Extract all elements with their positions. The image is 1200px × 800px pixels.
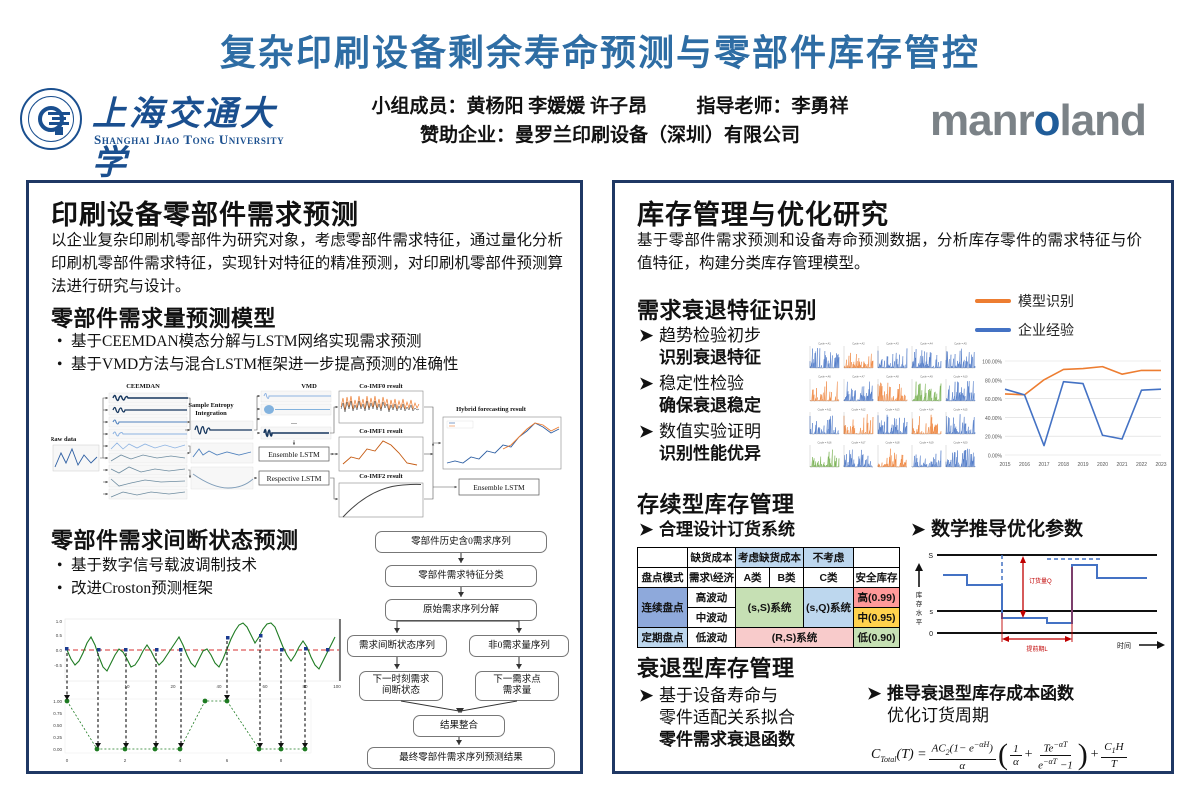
degradation-inventory-item: ➤ 基于设备寿命与 零件适配关系拟合 零件需求衰退函数 — [639, 685, 869, 751]
line-chart-svg: 0.00%20.00%40.00%60.00%80.00%100.00%2015… — [969, 353, 1167, 479]
manroland-logo-part-b: land — [1059, 96, 1145, 145]
svg-text:2017: 2017 — [1038, 462, 1049, 468]
bullet-dot-icon: • — [57, 578, 71, 600]
legend-label-experience: 企业经验 — [1018, 320, 1074, 340]
svg-text:Cycle = A9: Cycle = A9 — [920, 375, 933, 379]
left-subtitle-2: 零部件需求间断状态预测 — [51, 523, 299, 555]
poster-header: 复杂印刷设备剩余寿命预测与零部件库存管控 上海交通大学 Shanghai Jia… — [0, 0, 1200, 170]
formula-frac4-num: C1H — [1101, 741, 1126, 758]
table-row: 连续盘点 高波动 (s,S)系统 (s,Q)系统 高(0.99) — [638, 588, 900, 608]
flow-box-4: 需求间断状态序列 — [347, 635, 447, 657]
table-row: 缺货成本 考虑缺货成本 不考虑 — [638, 548, 900, 568]
degradation-item-3-line2: 识别性能优异 — [659, 443, 761, 465]
inventory-level-figure: S s 0 库 存 水 平 订货量Q — [907, 545, 1169, 655]
cell-class-b: B类 — [770, 568, 804, 588]
svg-text:20: 20 — [170, 684, 176, 689]
svg-text:Cycle = A16: Cycle = A16 — [818, 441, 832, 445]
svg-text:0.0: 0.0 — [56, 648, 63, 653]
svg-text:6: 6 — [226, 758, 229, 763]
svg-text:-0.5: -0.5 — [54, 663, 62, 668]
svg-text:存: 存 — [916, 599, 923, 608]
svg-text:CEEMDAN: CEEMDAN — [126, 383, 160, 390]
svg-text:Cycle = A3: Cycle = A3 — [886, 342, 899, 346]
svg-text:1.0: 1.0 — [56, 619, 63, 624]
total-cost-formula: CTotal(T) = AC2(1− e−αH) α ( 1 α + Te−αT… — [871, 739, 1171, 772]
svg-text:Ensemble LSTM: Ensemble LSTM — [473, 483, 525, 492]
flow-box-7: 下一需求点需求量 — [475, 671, 559, 701]
svg-text:0.00: 0.00 — [53, 747, 62, 752]
arrow-bullet-icon: ➤ — [911, 519, 931, 541]
inventory-level-svg: S s 0 库 存 水 平 订货量Q — [907, 545, 1169, 655]
formula-frac2-num: 1 — [1010, 743, 1022, 756]
left-panel-title: 印刷设备零部件需求预测 — [51, 193, 359, 232]
formula-plus-2: + — [1090, 747, 1099, 763]
lead-time-label: 提前期L — [1026, 645, 1048, 653]
cell-ss-system: (s,S)系统 — [736, 588, 804, 628]
small-multiples-figure: Cycle = A1Cycle = A2Cycle = A3Cycle = A4… — [798, 335, 978, 477]
left-bullet-1: •基于CEEMDAN模态分解与LSTM网络实现需求预测 — [57, 331, 567, 353]
arrow-bullet-icon: ➤ — [639, 421, 659, 443]
svg-text:2019: 2019 — [1077, 462, 1088, 468]
degradation-item-3-line1: 数值实验证明 — [659, 421, 761, 443]
flow-box-9: 最终零部件需求序列预测结果 — [367, 747, 555, 769]
table-row: 盘点模式 需求\经济 A类 B类 C类 安全库存 — [638, 568, 900, 588]
cell-safety-low: 低(0.90) — [854, 628, 900, 648]
bullet-dot-icon: • — [57, 331, 71, 353]
bullet-dot-icon: • — [57, 555, 71, 577]
svg-text:Cycle = A20: Cycle = A20 — [954, 441, 968, 445]
svg-text:Cycle = A4: Cycle = A4 — [920, 342, 933, 346]
cell-class-a: A类 — [736, 568, 770, 588]
deg-inv-line2: 零件适配关系拟合 — [659, 707, 795, 729]
svg-text:Cycle = A6: Cycle = A6 — [818, 375, 831, 379]
cell-shortage-cost: 缺货成本 — [688, 548, 736, 568]
legend-swatch-experience — [975, 328, 1011, 332]
svg-text:Co-IMF2 result: Co-IMF2 result — [359, 473, 403, 480]
deg-inv-line1: 基于设备寿命与 — [659, 685, 795, 707]
formula-frac4-den: T — [1108, 758, 1120, 770]
sponsor-label: 赞助企业：曼罗兰印刷设备（深圳）有限公司 — [290, 121, 930, 150]
svg-text:60.00%: 60.00% — [985, 397, 1003, 403]
formula-plus-1: + — [1024, 747, 1033, 763]
cell-periodic-count: 定期盘点 — [638, 628, 688, 648]
degradation-item-1-line1: 趋势检验初步 — [659, 325, 761, 347]
cell-blank-2 — [854, 548, 900, 568]
formula-paren-open: ( — [998, 740, 1008, 770]
left-bullet-2: •基于VMD方法与混合LSTM框架进一步提高预测的准确性 — [57, 354, 567, 376]
left-bullet-4-text: 改进Croston预测框架 — [71, 580, 213, 597]
formula-frac-2: 1 α — [1010, 743, 1022, 768]
svg-text:20.00%: 20.00% — [985, 435, 1003, 441]
svg-text:100.00%: 100.00% — [982, 360, 1002, 366]
demand-prediction-flowchart: 零部件历史含0需求序列 零部件需求特征分类 原始需求序列分解 需求间断状态序列 … — [347, 531, 575, 769]
x-axis-label: 时间 — [1117, 641, 1131, 650]
left-bullet-1-text: 基于CEEMDAN模态分解与LSTM网络实现需求预测 — [71, 333, 421, 350]
manroland-logo-part-a: manr — [930, 96, 1034, 145]
svg-text:2023: 2023 — [1155, 462, 1166, 468]
cell-low-fluct: 低波动 — [688, 628, 736, 648]
right-subtitle-2: 存续型库存管理 — [637, 487, 795, 519]
arrow-bullet-icon: ➤ — [867, 683, 887, 705]
svg-text:80.00%: 80.00% — [985, 378, 1003, 384]
left-panel-intro: 以企业复杂印刷机零部件为研究对象，考虑零部件需求特征，通过量化分析印刷机零部件需… — [51, 229, 563, 298]
order-qty-label: 订货量Q — [1029, 577, 1052, 585]
formula-frac1-den: α — [956, 760, 968, 772]
arrow-bullet-icon: ➤ — [639, 519, 659, 541]
small-multiples-svg: Cycle = A1Cycle = A2Cycle = A3Cycle = A4… — [798, 335, 978, 477]
svg-text:0.25: 0.25 — [53, 735, 62, 740]
cell-not-consider: 不考虑 — [804, 548, 854, 568]
svg-text:0.50: 0.50 — [53, 723, 62, 728]
formula-frac-4: C1H T — [1101, 741, 1126, 770]
svg-text:Cycle = A7: Cycle = A7 — [852, 375, 865, 379]
members-label: 小组成员：黄杨阳 李媛媛 许子昂 — [371, 96, 647, 117]
formula-frac1-num: AC2(1− e−αH) — [929, 739, 996, 760]
formula-frac3-num: Te−αT — [1040, 739, 1070, 756]
left-bullet-4: •改进Croston预测框架 — [57, 578, 377, 600]
policy-table: 缺货成本 考虑缺货成本 不考虑 盘点模式 需求\经济 A类 B类 C类 安全库存… — [637, 547, 900, 648]
header-meta-line1: 小组成员：黄杨阳 李媛媛 许子昂 指导老师：李勇祥 — [290, 92, 930, 121]
right-subtitle-1: 需求衰退特征识别 — [637, 293, 817, 325]
y-axis-label: 库 — [916, 590, 923, 599]
svg-text:2022: 2022 — [1136, 462, 1147, 468]
flow-box-3: 原始需求序列分解 — [385, 599, 537, 621]
cell-safety-mid: 中(0.95) — [854, 608, 900, 628]
formula-frac3-den: e−αT −1 — [1035, 756, 1076, 772]
manroland-logo: manroland — [930, 96, 1146, 146]
formula-paren-close: ) — [1078, 740, 1088, 770]
cell-rs-system: (R,S)系统 — [736, 628, 854, 648]
label-s: s — [930, 609, 934, 616]
svg-text:100: 100 — [333, 684, 341, 689]
cell-consider-shortage: 考虑缺货成本 — [736, 548, 804, 568]
header-meta: 小组成员：黄杨阳 李媛媛 许子昂 指导老师：李勇祥 赞助企业：曼罗兰印刷设备（深… — [290, 92, 930, 150]
math-optimization-label: 数学推导优化参数 — [931, 519, 1083, 541]
svg-text:2018: 2018 — [1058, 462, 1069, 468]
order-system-label: 合理设计订货系统 — [659, 519, 795, 541]
page-title: 复杂印刷设备剩余寿命预测与零部件库存管控 — [0, 24, 1200, 76]
svg-text:Respective LSTM: Respective LSTM — [267, 474, 322, 483]
svg-text:Cycle = A14: Cycle = A14 — [920, 408, 934, 412]
svg-text:Cycle = A13: Cycle = A13 — [886, 408, 900, 412]
left-bullet-3-text: 基于数字信号载波调制技术 — [71, 557, 257, 574]
svg-text:Co-IMF1 result: Co-IMF1 result — [359, 428, 403, 435]
sjtu-logo: 上海交通大学 Shanghai Jiao Tong University — [14, 86, 286, 156]
flow-box-5: 非0需求量序列 — [469, 635, 569, 657]
svg-text:2020: 2020 — [1097, 462, 1108, 468]
degradation-item-1-line2: 识别衰退特征 — [659, 347, 761, 369]
legend-label-model: 模型识别 — [1018, 291, 1074, 311]
recognition-rate-line-chart: 0.00%20.00%40.00%60.00%80.00%100.00%2015… — [969, 353, 1167, 479]
svg-text:10: 10 — [124, 684, 130, 689]
chart-legend: 模型识别 企业经验 — [975, 291, 1155, 349]
svg-text:Cycle = A18: Cycle = A18 — [886, 441, 900, 445]
left-subtitle-1: 零部件需求量预测模型 — [51, 301, 276, 333]
legend-item-experience: 企业经验 — [975, 320, 1155, 340]
formula-frac2-den: α — [1010, 756, 1022, 768]
svg-text:Cycle = A19: Cycle = A19 — [920, 441, 934, 445]
svg-text:8: 8 — [280, 758, 283, 763]
sjtu-seal-icon — [20, 88, 82, 150]
panel-demand-forecast: 印刷设备零部件需求预测 以企业复杂印刷机零部件为研究对象，考虑零部件需求特征，通… — [26, 180, 583, 774]
legend-item-model: 模型识别 — [975, 291, 1155, 311]
formula-frac-3: Te−αT e−αT −1 — [1035, 739, 1076, 771]
svg-text:Cycle = A11: Cycle = A11 — [818, 408, 832, 412]
cell-mid-fluct: 中波动 — [688, 608, 736, 628]
svg-text:1.00: 1.00 — [53, 699, 62, 704]
right-panel-intro: 基于零部件需求预测和设备寿命预测数据，分析库存零件的需求特征与价值特征，构建分类… — [637, 229, 1142, 275]
svg-text:40.00%: 40.00% — [985, 416, 1003, 422]
table-row: 定期盘点 低波动 (R,S)系统 低(0.90) — [638, 628, 900, 648]
svg-text:2016: 2016 — [1019, 462, 1030, 468]
manroland-logo-part-o: o — [1034, 96, 1060, 145]
university-name-en: Shanghai Jiao Tong University — [94, 132, 284, 148]
cost-function-item: ➤ 推导衰退型库存成本函数 优化订货周期 — [867, 683, 1167, 727]
svg-text:...: ... — [291, 417, 297, 426]
panel-inventory-management: 库存管理与优化研究 基于零部件需求预测和设备寿命预测数据，分析库存零件的需求特征… — [612, 180, 1174, 774]
cell-blank-1 — [638, 548, 688, 568]
croston-signal-figure: 1.00.5 0.0-0.5 1020 4060 80100 — [37, 615, 349, 767]
cost-fn-line1: 推导衰退型库存成本函数 — [887, 683, 1074, 705]
label-S: S — [928, 553, 933, 560]
label-zero: 0 — [929, 631, 933, 638]
cell-demand-economy: 需求\经济 — [688, 568, 736, 588]
svg-text:Sample Entropy: Sample Entropy — [188, 402, 234, 409]
right-panel-title: 库存管理与优化研究 — [637, 193, 889, 232]
svg-text:VMD: VMD — [301, 383, 317, 390]
ceemdan-vmd-pipeline-figure: CEEMDAN VMD Co-IMF0 result Co-IMF1 resul… — [51, 379, 566, 519]
flow-box-8: 结果整合 — [413, 715, 505, 737]
right-subtitle-3: 衰退型库存管理 — [637, 651, 795, 683]
svg-text:Co-IMF0 result: Co-IMF0 result — [359, 383, 403, 390]
svg-text:2021: 2021 — [1116, 462, 1127, 468]
svg-text:Cycle = A17: Cycle = A17 — [852, 441, 866, 445]
inventory-policy-table: 缺货成本 考虑缺货成本 不考虑 盘点模式 需求\经济 A类 B类 C类 安全库存… — [637, 547, 899, 648]
svg-text:Cycle = A10: Cycle = A10 — [954, 375, 968, 379]
degradation-item-2-line2: 确保衰退稳定 — [659, 395, 761, 417]
svg-text:0: 0 — [66, 758, 69, 763]
cost-fn-line2: 优化订货周期 — [887, 705, 1074, 727]
svg-text:0.75: 0.75 — [53, 711, 62, 716]
advisor-label: 指导老师：李勇祥 — [697, 96, 849, 117]
svg-text:Integration: Integration — [195, 410, 227, 417]
pipeline-svg: CEEMDAN VMD Co-IMF0 result Co-IMF1 resul… — [51, 379, 566, 519]
bullet-dot-icon: • — [57, 354, 71, 376]
svg-text:Cycle = A15: Cycle = A15 — [954, 408, 968, 412]
svg-text:Raw data: Raw data — [51, 436, 77, 443]
cell-continuous-count: 连续盘点 — [638, 588, 688, 628]
cell-sq-system: (s,Q)系统 — [804, 588, 854, 628]
legend-swatch-model — [975, 299, 1011, 303]
order-system-item: ➤ 合理设计订货系统 — [639, 519, 795, 541]
arrow-bullet-icon: ➤ — [639, 325, 659, 347]
arrow-bullet-icon: ➤ — [639, 685, 659, 707]
svg-text:Cycle = A12: Cycle = A12 — [852, 408, 866, 412]
svg-text:0.5: 0.5 — [56, 633, 63, 638]
svg-text:平: 平 — [916, 618, 923, 626]
deg-inv-line3: 零件需求衰退函数 — [659, 729, 795, 751]
svg-text:Ensemble LSTM: Ensemble LSTM — [268, 450, 320, 459]
svg-text:2: 2 — [124, 758, 127, 763]
svg-text:2015: 2015 — [999, 462, 1010, 468]
math-optimization-header: ➤ 数学推导优化参数 — [911, 519, 1171, 541]
svg-text:Cycle = A8: Cycle = A8 — [886, 375, 899, 379]
formula-lhs: CTotal(T) = — [871, 747, 927, 764]
svg-text:Cycle = A1: Cycle = A1 — [818, 342, 831, 346]
formula-frac-1: AC2(1− e−αH) α — [929, 739, 996, 772]
svg-text:60: 60 — [262, 684, 268, 689]
cell-safety-stock: 安全库存 — [854, 568, 900, 588]
svg-text:水: 水 — [916, 608, 923, 617]
sjtu-seal-glyph — [44, 110, 74, 136]
cell-count-mode: 盘点模式 — [638, 568, 688, 588]
svg-text:Hybrid forecasting result: Hybrid forecasting result — [456, 406, 527, 413]
cell-safety-high: 高(0.99) — [854, 588, 900, 608]
svg-text:Cycle = A5: Cycle = A5 — [954, 342, 967, 346]
arrow-bullet-icon: ➤ — [639, 373, 659, 395]
croston-svg: 1.00.5 0.0-0.5 1020 4060 80100 — [37, 615, 349, 767]
flow-box-2: 零部件需求特征分类 — [385, 565, 537, 587]
left-bullet-2-text: 基于VMD方法与混合LSTM框架进一步提高预测的准确性 — [71, 356, 459, 373]
cell-high-fluct: 高波动 — [688, 588, 736, 608]
cell-class-c: C类 — [804, 568, 854, 588]
svg-text:0.00%: 0.00% — [988, 454, 1003, 460]
svg-text:40: 40 — [216, 684, 222, 689]
flow-box-6: 下一时刻需求间断状态 — [359, 671, 443, 701]
svg-text:Cycle = A2: Cycle = A2 — [852, 342, 865, 346]
degradation-item-2-line1: 稳定性检验 — [659, 373, 761, 395]
svg-text:4: 4 — [179, 758, 182, 763]
left-bullet-3: •基于数字信号载波调制技术 — [57, 555, 377, 577]
flow-box-1: 零部件历史含0需求序列 — [375, 531, 547, 553]
